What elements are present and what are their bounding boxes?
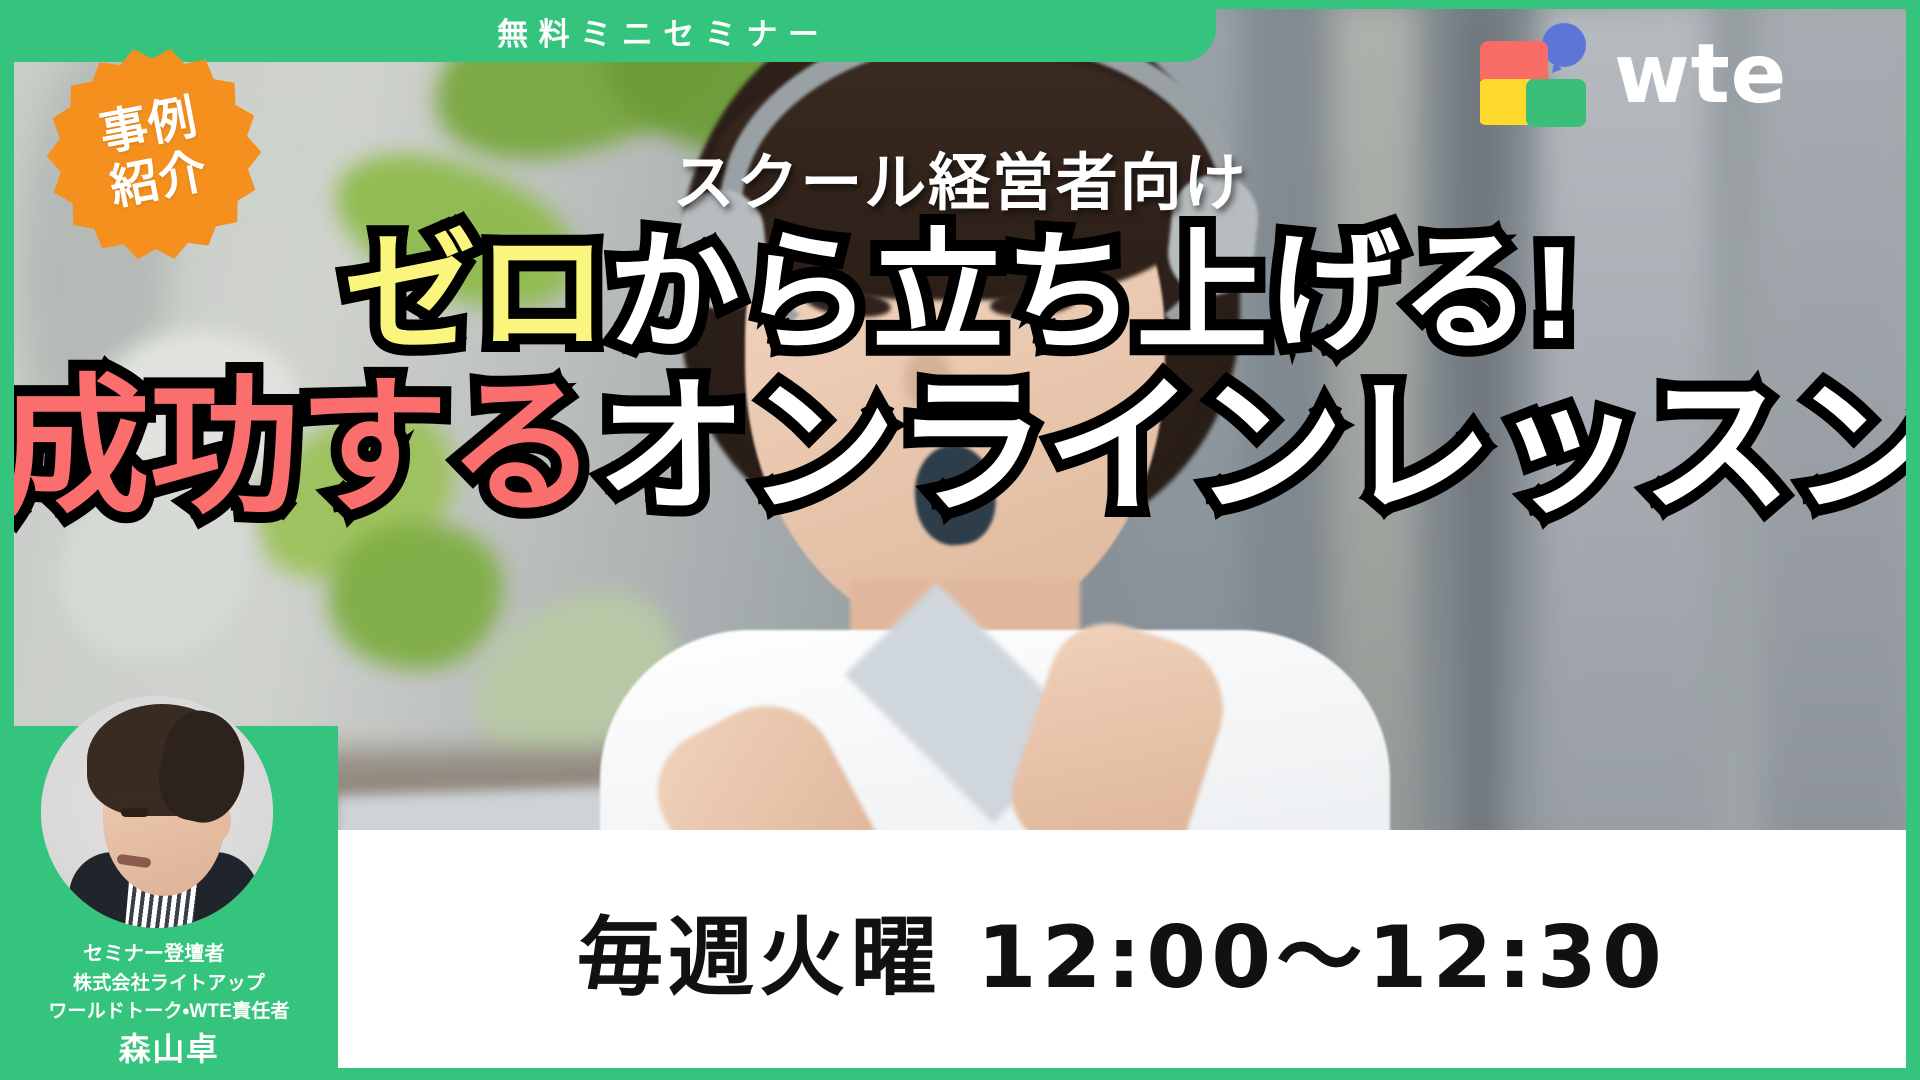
headline-line-1-part-2: から立ち上げる!	[608, 219, 1576, 366]
schedule-text: 毎週火曜 12:00〜12:30	[577, 887, 1667, 1012]
speaker-meta: 株式会社ライトアップ ワールドトーク・WTE責任者 森山卓	[0, 970, 338, 1072]
speaker-avatar	[41, 696, 273, 928]
headline-line-2-part-2: オンラインレッスンの作り方	[597, 363, 1920, 531]
headline-line-1-part-1: ゼロ	[344, 219, 608, 366]
wte-logo: wte	[1480, 20, 1880, 130]
headline-block: スクール経営者向け ゼロから立ち上げる! 成功するオンラインレッスンの作り方	[0, 150, 1920, 526]
speech-bubbles-logo-mark	[1480, 23, 1600, 127]
headline-line-1: ゼロから立ち上げる!	[0, 224, 1920, 363]
speaker-company: 株式会社ライトアップ	[0, 970, 338, 998]
headline-line-2-part-1: 成功する	[0, 363, 597, 531]
frame-right	[1906, 0, 1920, 1080]
headline-kicker: スクール経営者向け	[0, 150, 1920, 218]
speaker-name: 森山卓	[0, 1027, 338, 1072]
frame-top	[0, 0, 1920, 9]
frame-left	[0, 0, 14, 1080]
headline-line-2: 成功するオンラインレッスンの作り方	[0, 369, 1920, 527]
speaker-role: ワールドトーク・WTE責任者	[0, 998, 338, 1026]
speaker-role-badge: セミナー登壇者	[55, 930, 253, 972]
seminar-banner: 無料ミニセミナー 事例 紹介 wte スクール経営者向け	[0, 0, 1920, 1080]
schedule-bar: 毎週火曜 12:00〜12:30	[338, 830, 1906, 1068]
free-seminar-label: 無料ミニセミナー	[487, 9, 830, 54]
case-study-badge: 事例 紹介	[26, 26, 282, 282]
wte-wordmark: wte	[1614, 34, 1787, 116]
